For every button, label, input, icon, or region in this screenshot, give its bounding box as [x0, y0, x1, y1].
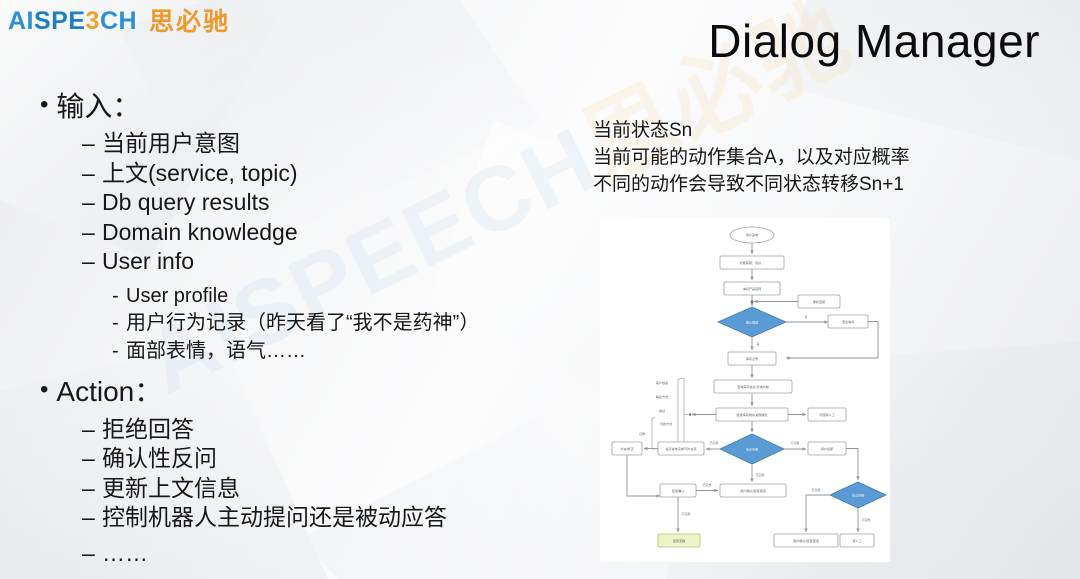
node-label: 澄清询问 [842, 319, 854, 324]
list-item-label: User info [102, 247, 194, 276]
description-line-1: 当前状态Sn [593, 118, 1013, 145]
list-item-label: …… [102, 539, 148, 568]
list-item: – User info [82, 247, 600, 276]
dash-marker-icon: – [82, 129, 102, 158]
logo-part-spe: SPE [34, 9, 86, 34]
sub-dash-marker-icon: - [112, 338, 126, 366]
logo-part-ai: AI [8, 9, 34, 34]
brand-logo: AISPE3CH 思必驰 [8, 8, 230, 34]
node-label: 用户来电 [746, 232, 758, 237]
bullet-dot-icon: • [40, 377, 48, 403]
bracket-label: 客户姓名 [656, 380, 668, 385]
edge-label: 是 [756, 341, 759, 346]
list-item-label: 当前用户意图 [102, 129, 240, 158]
node-label: 信息完整 [852, 493, 864, 498]
node-label: 用户确认/结束通话 [740, 488, 766, 493]
node-label: 用户挂断 [821, 446, 833, 451]
page-title: Dialog Manager [708, 14, 1040, 68]
edge-label: 已完整 [709, 440, 718, 445]
node-label: 重新回答 [813, 299, 825, 304]
list-item-label: 拒绝回答 [102, 415, 194, 444]
edge-label: 已完整 [755, 472, 764, 477]
right-description-block: 当前状态Sn 当前可能的动作集合A，以及对应概率 不同的动作会导致不同状态转移S… [593, 118, 1013, 199]
edge-label: 否 [804, 315, 807, 319]
logo-wordmark: AISPE3CH [8, 9, 137, 34]
list-item-label: Domain knowledge [102, 218, 298, 247]
node-label: 继续填写剩余关键槽位 [737, 412, 768, 417]
node-label: 智能客服：您好… [740, 260, 765, 265]
node-label: 用户确认/结束通话 [793, 538, 819, 543]
section-action-title: Action： [56, 377, 162, 406]
sub-list-item: - 用户行为记录（昨天看了“我不是药神”） [112, 310, 600, 338]
list-item: – 拒绝回答 [82, 415, 600, 444]
bracket-label: 地址 [659, 408, 665, 413]
list-item-label: 控制机器人主动提问还是被动应答 [102, 503, 447, 532]
node-label: 转人工 [852, 538, 861, 543]
edge-label: 不完整 [681, 511, 690, 516]
section-action-heading: • Action： [40, 377, 600, 406]
dash-marker-icon: – [82, 474, 102, 503]
dialog-flowchart-panel: 用户来电 智能客服：您好… 询问产品名称 重新回答 确认理解 否 澄清询问 [600, 218, 890, 562]
node-label: 结束流程 [673, 538, 685, 543]
dash-marker-icon: – [82, 218, 102, 247]
list-item: – 当前用户意图 [82, 129, 600, 158]
list-item: – Domain knowledge [82, 218, 600, 247]
sub-list-item: - 面部表情，语气…… [112, 338, 600, 366]
bullet-dot-icon: • [40, 92, 48, 118]
dialog-flowchart-svg: 用户来电 智能客服：您好… 询问产品名称 重新回答 确认理解 否 澄清询问 [600, 218, 890, 562]
sub-list-item-label: 面部表情，语气…… [126, 338, 306, 366]
node-label: 确认理解 [746, 320, 758, 325]
left-content-column: • 输入： – 当前用户意图 – 上文(service, topic) – Db… [40, 92, 600, 568]
sub-list-item-label: 用户行为记录（昨天看了“我不是药神”） [126, 310, 479, 338]
dash-marker-icon: – [82, 444, 102, 473]
description-line-3: 不同的动作会导致不同状态转移Sn+1 [593, 172, 1013, 199]
list-item: – 上文(service, topic) [82, 159, 600, 188]
dash-marker-icon: – [82, 539, 102, 568]
dash-marker-icon: – [82, 503, 102, 532]
section-input-title: 输入： [56, 92, 140, 121]
logo-part-ch: CH [100, 9, 137, 34]
node-label: 提示尚未完成可补充项 [666, 446, 697, 451]
sub-list-item-label: User profile [126, 283, 228, 311]
list-item-label: Db query results [102, 188, 269, 217]
node-label: 复述确认 [672, 488, 684, 493]
dash-marker-icon: – [82, 188, 102, 217]
logo-chinese-name: 思必驰 [149, 9, 230, 34]
bracket-label: 付款方式 [660, 421, 672, 426]
bracket-title: 记录 [639, 431, 645, 436]
edge-label: 不完整 [861, 517, 870, 522]
sub-list-item: - User profile [112, 283, 600, 311]
sub-dash-marker-icon: - [112, 310, 126, 338]
node-label: 问题转人工 [819, 412, 834, 417]
edge-label: 不完整 [790, 440, 799, 445]
edge-label: 已完整 [702, 482, 711, 487]
list-item: – 更新上文信息 [82, 474, 600, 503]
node-label: 询问产品名称 [743, 286, 762, 291]
node-label: 填写记录 [746, 356, 758, 361]
slide-canvas: AISPEECH思必驰 AISPE3CH 思必驰 Dialog Manager … [0, 0, 1080, 579]
bracket-label: 联系方式 [656, 394, 668, 399]
dash-marker-icon: – [82, 415, 102, 444]
sub-dash-marker-icon: - [112, 283, 126, 311]
list-item: – 确认性反问 [82, 444, 600, 473]
description-line-2: 当前可能的动作集合A，以及对应概率 [593, 145, 1013, 172]
node-label: 补充/修正 [620, 446, 633, 451]
logo-part-e: 3 [86, 9, 100, 34]
list-item-label: 上文(service, topic) [102, 159, 298, 188]
list-item: – Db query results [82, 188, 600, 217]
list-item: – 控制机器人主动提问还是被动应答 [82, 503, 600, 532]
section-input-heading: • 输入： [40, 92, 600, 121]
dash-marker-icon: – [82, 159, 102, 188]
list-item-label: 更新上文信息 [102, 474, 240, 503]
list-item-label: 确认性反问 [102, 444, 217, 473]
dash-marker-icon: – [82, 247, 102, 276]
list-item: – …… [82, 539, 600, 568]
edge-label: 已完整 [811, 487, 820, 492]
node-label: 查询库存信息/查询价格 [737, 384, 770, 389]
node-label: 信息完整 [746, 447, 758, 452]
